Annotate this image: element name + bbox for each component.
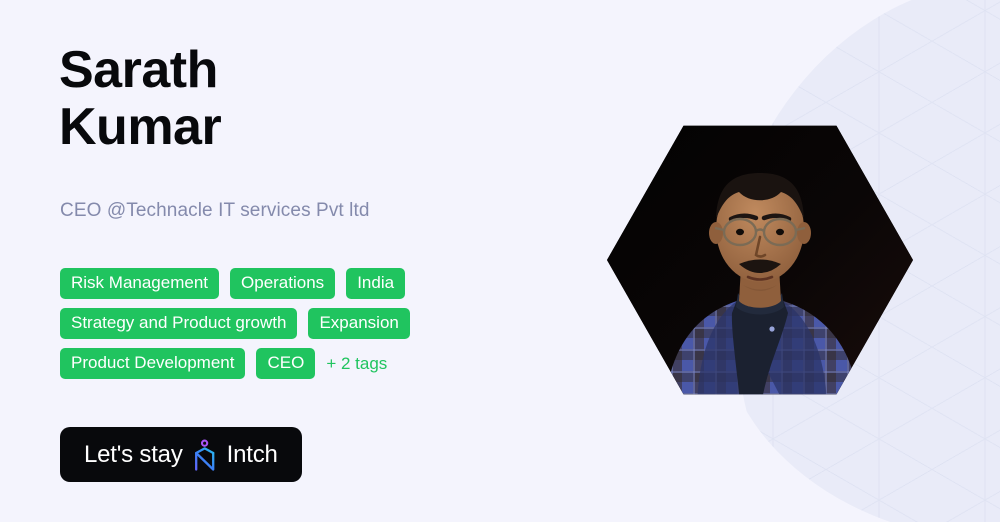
intch-logo-icon — [192, 439, 218, 471]
tag-chip[interactable]: India — [346, 268, 405, 299]
tag-chip[interactable]: Risk Management — [60, 268, 219, 299]
lets-stay-intch-button[interactable]: Let's stay Intch — [60, 427, 302, 482]
tag-overflow-label[interactable]: + 2 tags — [326, 354, 387, 374]
profile-card: Sarath Kumar CEO @Technacle IT services … — [0, 0, 1000, 522]
tag-list: Risk Management Operations India Strateg… — [60, 268, 580, 379]
profile-headline: CEO @Technacle IT services Pvt ltd — [60, 198, 370, 224]
tag-chip[interactable]: CEO — [256, 348, 315, 379]
page-title: Sarath Kumar — [59, 42, 579, 156]
tag-chip[interactable]: Strategy and Product growth — [60, 308, 297, 339]
tag-chip[interactable]: Expansion — [308, 308, 409, 339]
tag-chip[interactable]: Operations — [230, 268, 335, 299]
cta-label-before: Let's stay — [84, 441, 183, 469]
tag-chip[interactable]: Product Development — [60, 348, 245, 379]
cta-label-after: Intch — [227, 441, 278, 469]
